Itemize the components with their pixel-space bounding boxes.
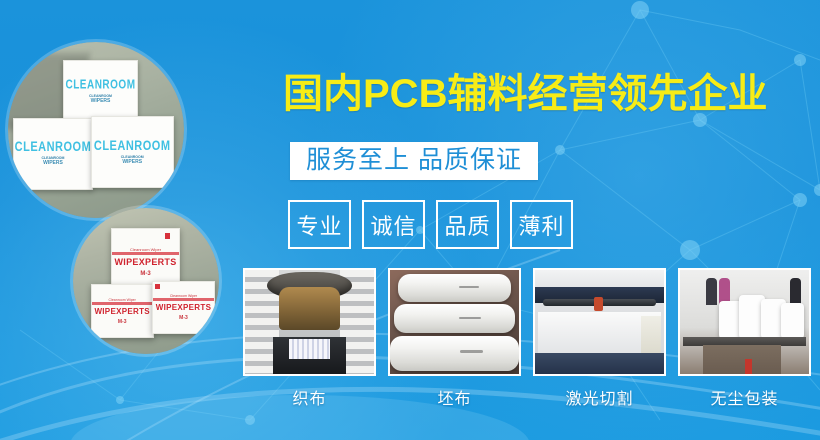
process-photo-card-greige-fabric: 坯布 bbox=[388, 268, 521, 409]
cleanroom-package: CLEANROOM CLEANROOM WIPERS bbox=[13, 118, 92, 190]
box-brand-label: WIPEXPERTS bbox=[115, 257, 177, 267]
process-photo-caption: 织布 bbox=[292, 385, 326, 409]
feature-tag-integrity: 诚信 bbox=[362, 200, 425, 249]
wipexperts-box: Cleanroom Wiper WIPEXPERTS M-3 bbox=[152, 281, 215, 334]
process-photo-caption: 坯布 bbox=[437, 385, 471, 409]
process-photo-caption: 无尘包装 bbox=[710, 385, 778, 409]
wipexperts-box: Cleanroom Wiper WIPEXPERTS M-3 bbox=[91, 284, 154, 339]
box-brand-label: WIPEXPERTS bbox=[94, 307, 149, 316]
process-photo-card-laser-cutting: 激光切割 bbox=[533, 268, 666, 409]
box-code-label: M-3 bbox=[118, 319, 127, 325]
process-photo-weaving-image bbox=[243, 268, 376, 376]
package-brand-label: CLEANROOM bbox=[15, 140, 92, 155]
feature-tag-quality: 品质 bbox=[436, 200, 499, 249]
feature-tag-list: 专业 诚信 品质 薄利 bbox=[288, 200, 573, 249]
package-sub2-label: WIPERS bbox=[91, 98, 111, 104]
process-photo-card-weaving: 织布 bbox=[243, 268, 376, 409]
cleanroom-package: CLEANROOM CLEANROOM WIPERS bbox=[91, 116, 174, 188]
promo-banner: CLEANROOM CLEANROOM WIPERS CLEANROOM CLE… bbox=[0, 0, 820, 440]
box-brand-label: WIPEXPERTS bbox=[156, 303, 211, 312]
package-sub2-label: WIPERS bbox=[43, 160, 63, 166]
banner-subtitle-text: 服务至上 品质保证 bbox=[306, 146, 522, 175]
box-code-label: M-3 bbox=[179, 315, 188, 321]
box-code-label: M-3 bbox=[140, 271, 150, 277]
product-photo-cleanroom-wipes: CLEANROOM CLEANROOM WIPERS CLEANROOM CLE… bbox=[8, 42, 184, 218]
process-photo-laser-cutting-image bbox=[533, 268, 666, 376]
process-photo-card-cleanroom-packing: 无尘包装 bbox=[678, 268, 811, 409]
process-photo-greige-fabric-image bbox=[388, 268, 521, 376]
package-brand-label: CLEANROOM bbox=[65, 79, 135, 93]
process-photo-strip: 织布 坯布 bbox=[243, 268, 811, 409]
process-photo-caption: 激光切割 bbox=[565, 385, 633, 409]
product-photo-wipexperts: Cleanroom Wiper WIPEXPERTS M-3 Cleanroom… bbox=[73, 208, 219, 354]
feature-tag-professional: 专业 bbox=[288, 200, 351, 249]
feature-tag-low-margin: 薄利 bbox=[510, 200, 573, 249]
process-photo-cleanroom-packing-image bbox=[678, 268, 811, 376]
package-brand-label: CLEANROOM bbox=[94, 138, 171, 153]
package-sub2-label: WIPERS bbox=[122, 159, 142, 165]
banner-subtitle-bar: 服务至上 品质保证 bbox=[290, 142, 538, 180]
banner-headline: 国内PCB辅料经营领先企业 bbox=[283, 74, 767, 114]
